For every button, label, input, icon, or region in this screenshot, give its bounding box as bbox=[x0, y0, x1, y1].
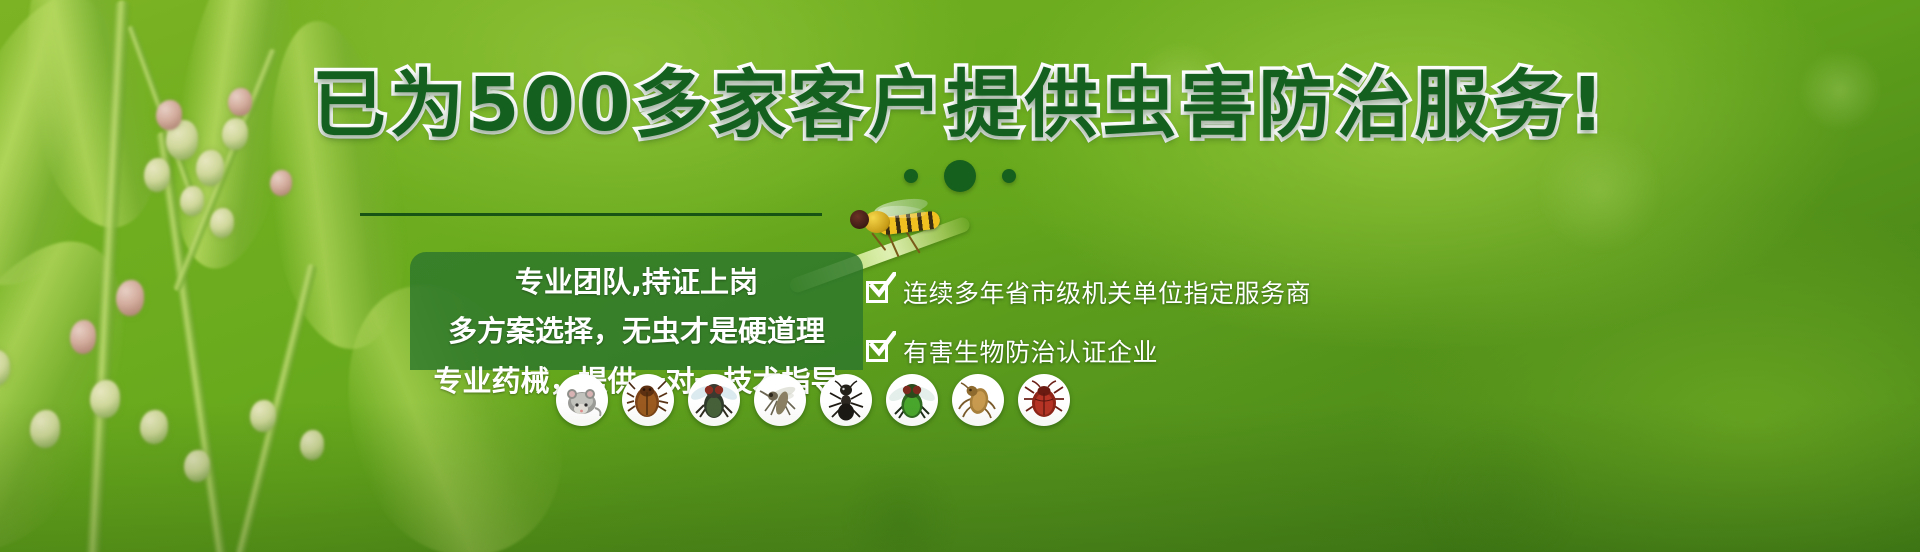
feature-line-2: 多方案选择，无虫才是硬道理 bbox=[410, 317, 863, 346]
checkbox-checked-icon bbox=[866, 279, 892, 305]
ant-icon[interactable] bbox=[820, 374, 872, 426]
mosquito-icon[interactable] bbox=[754, 374, 806, 426]
checklist-item-label: 有害生物防治认证企业 bbox=[903, 333, 1158, 369]
pest-icon-row bbox=[556, 374, 1070, 426]
blowfly-icon[interactable] bbox=[886, 374, 938, 426]
fly-icon[interactable] bbox=[688, 374, 740, 426]
feature-line-1: 专业团队,持证上岗 bbox=[410, 268, 863, 297]
divider-line bbox=[360, 213, 822, 216]
checkbox-checked-icon bbox=[866, 338, 892, 364]
page-title-text: 已为500多家客户提供虫害防治服务! bbox=[312, 62, 1608, 148]
decorative-dots bbox=[0, 160, 1920, 192]
rodent-icon[interactable] bbox=[556, 374, 608, 426]
checklist-item-label: 连续多年省市级机关单位指定服务商 bbox=[903, 274, 1311, 310]
page-title: 已为500多家客户提供虫害防治服务! bbox=[0, 68, 1920, 142]
checklist-item: 连续多年省市级机关单位指定服务商 bbox=[866, 274, 1311, 310]
cockroach-icon[interactable] bbox=[622, 374, 674, 426]
pest-control-banner: 已为500多家客户提供虫害防治服务! 专业团队,持证上岗 多方案选择，无虫才是硬… bbox=[0, 0, 1920, 552]
checklist-item: 有害生物防治认证企业 bbox=[866, 333, 1311, 369]
bedbug-icon[interactable] bbox=[1018, 374, 1070, 426]
dot-small-left-icon bbox=[904, 169, 918, 183]
hoverfly-on-stem-icon bbox=[848, 198, 948, 250]
flea-icon[interactable] bbox=[952, 374, 1004, 426]
dot-small-right-icon bbox=[1002, 169, 1016, 183]
